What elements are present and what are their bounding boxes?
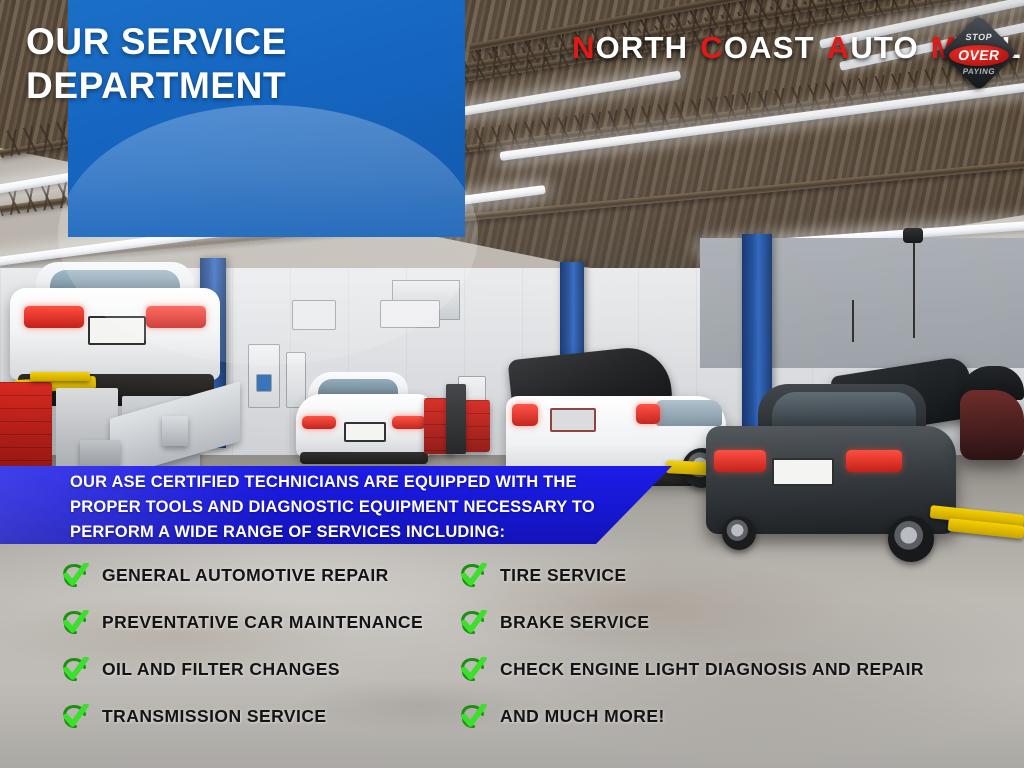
check-icon	[460, 704, 487, 729]
check-icon	[460, 610, 487, 635]
check-icon	[62, 657, 89, 682]
vehicle-white-sedan-center	[296, 372, 436, 468]
check-icon	[460, 563, 487, 588]
vehicle-dark-sedan	[706, 366, 996, 566]
brand-word: AUTO	[827, 30, 919, 66]
service-label: PREVENTATIVE CAR MAINTENANCE	[102, 612, 423, 633]
tail-light	[714, 450, 766, 472]
service-item: PREVENTATIVE CAR MAINTENANCE	[62, 599, 462, 646]
vehicle-partial-right	[960, 360, 1024, 480]
service-item: AND MUCH MORE!	[460, 693, 1020, 740]
page-title-line2: DEPARTMENT	[26, 64, 386, 108]
service-label: BRAKE SERVICE	[500, 612, 649, 633]
service-label: CHECK ENGINE LIGHT DIAGNOSIS AND REPAIR	[500, 659, 924, 680]
check-icon	[62, 563, 89, 588]
parts-bin	[162, 416, 188, 446]
stop-over-paying-badge: STOP OVER PAYING	[948, 24, 1010, 86]
services-column-right: TIRE SERVICE BRAKE SERVICE	[460, 552, 1020, 740]
hanging-cord	[852, 300, 854, 342]
check-icon	[62, 610, 89, 635]
service-item: TRANSMISSION SERVICE	[62, 693, 462, 740]
service-label: GENERAL AUTOMOTIVE REPAIR	[102, 565, 389, 586]
tail-light	[302, 416, 336, 429]
brand-word-rest: UTO	[850, 30, 918, 65]
service-label: TIRE SERVICE	[500, 565, 627, 586]
badge-middle-text: OVER	[947, 47, 1012, 63]
license-plate	[550, 408, 596, 432]
service-label: TRANSMISSION SERVICE	[102, 706, 327, 727]
service-item: GENERAL AUTOMOTIVE REPAIR	[62, 552, 462, 599]
car-rear-window	[772, 392, 916, 428]
license-plate	[344, 422, 386, 442]
service-label: AND MUCH MORE!	[500, 706, 665, 727]
brand-word-rest: ORTH	[596, 30, 689, 65]
service-item: CHECK ENGINE LIGHT DIAGNOSIS AND REPAIR	[460, 646, 1020, 693]
tool-chest-red	[0, 382, 52, 476]
brand-word: NORTH	[572, 30, 688, 66]
page-title-line1: OUR SERVICE	[26, 20, 386, 64]
tool-chest-red	[462, 400, 490, 452]
services-column-left: GENERAL AUTOMOTIVE REPAIR PREVENTATIVE C…	[62, 552, 462, 740]
brand-word: COAST	[700, 30, 815, 66]
service-department-slide: OUR SERVICE DEPARTMENT NORTH COAST AUTO …	[0, 0, 1024, 768]
service-item: OIL AND FILTER CHANGES	[62, 646, 462, 693]
hose-reel	[903, 228, 923, 243]
tail-light	[24, 306, 84, 328]
brand-word-initial: C	[700, 30, 724, 65]
hanging-cord	[913, 240, 915, 338]
check-icon	[62, 704, 89, 729]
tail-light	[512, 404, 538, 426]
wall-panel-box	[256, 374, 272, 392]
badge-bottom-text: PAYING	[947, 67, 1010, 76]
wheel	[722, 516, 756, 550]
tail-light	[392, 416, 426, 429]
brand-word-initial: N	[572, 30, 596, 65]
badge-top-text: STOP	[947, 32, 1011, 42]
check-icon	[460, 657, 487, 682]
services-checklist: GENERAL AUTOMOTIVE REPAIR PREVENTATIVE C…	[0, 552, 1024, 752]
service-item: TIRE SERVICE	[460, 552, 1020, 599]
statement-banner-text: OUR ASE CERTIFIED TECHNICIANS ARE EQUIPP…	[70, 470, 630, 545]
service-item: BRAKE SERVICE	[460, 599, 1020, 646]
tail-light	[846, 450, 902, 472]
lift-arm	[30, 372, 90, 381]
license-plate	[772, 458, 834, 486]
car-body	[960, 390, 1024, 460]
brand-word-rest: OAST	[724, 30, 815, 65]
tail-light	[636, 404, 660, 424]
equipment-cabinet	[446, 384, 466, 454]
page-title: OUR SERVICE DEPARTMENT	[26, 20, 386, 107]
header-fade-overlay	[68, 117, 465, 237]
vehicle-undercarriage	[300, 452, 428, 464]
service-label: OIL AND FILTER CHANGES	[102, 659, 340, 680]
brand-word-initial: A	[827, 30, 851, 65]
